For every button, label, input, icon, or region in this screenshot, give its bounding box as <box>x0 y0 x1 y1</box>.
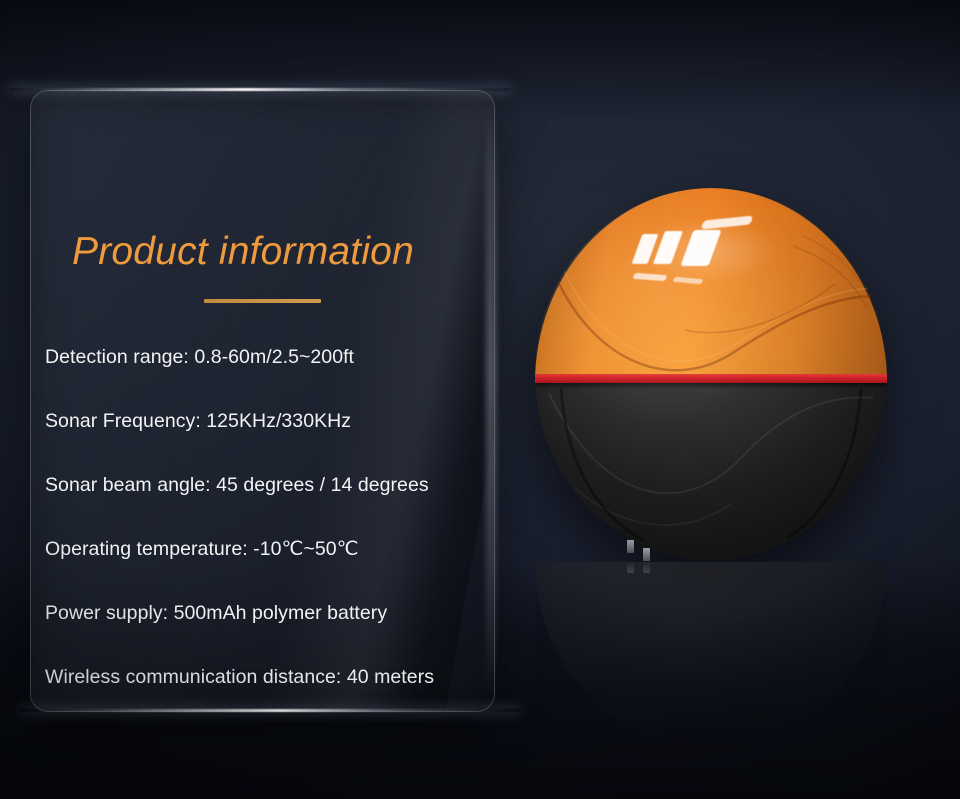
product-information-panel: Product information Detection range: 0.8… <box>30 90 495 712</box>
spec-power-supply: Power supply: 500mAh polymer battery <box>45 604 483 668</box>
panel-content: Product information Detection range: 0.8… <box>30 90 495 712</box>
specification-list: Detection range: 0.8-60m/2.5~200ft Sonar… <box>45 348 483 712</box>
product-information-slide: Product information Detection range: 0.8… <box>0 0 960 799</box>
charging-contact-pin <box>643 548 650 561</box>
page-title: Product information <box>72 230 414 274</box>
title-underline-rule <box>204 299 321 303</box>
sphere-body <box>535 188 887 560</box>
product-device-sphere <box>535 188 887 560</box>
sphere-red-band <box>535 374 887 383</box>
sphere-top-hemisphere <box>535 188 887 383</box>
spec-wireless-distance: Wireless communication distance: 40 mete… <box>45 668 483 712</box>
spec-detection-range: Detection range: 0.8-60m/2.5~200ft <box>45 348 483 412</box>
spec-sonar-frequency: Sonar Frequency: 125KHz/330KHz <box>45 412 483 476</box>
spec-sonar-beam-angle: Sonar beam angle: 45 degrees / 14 degree… <box>45 476 483 540</box>
charging-contact-pin <box>627 540 634 553</box>
spec-operating-temperature: Operating temperature: -10℃~50℃ <box>45 540 483 604</box>
